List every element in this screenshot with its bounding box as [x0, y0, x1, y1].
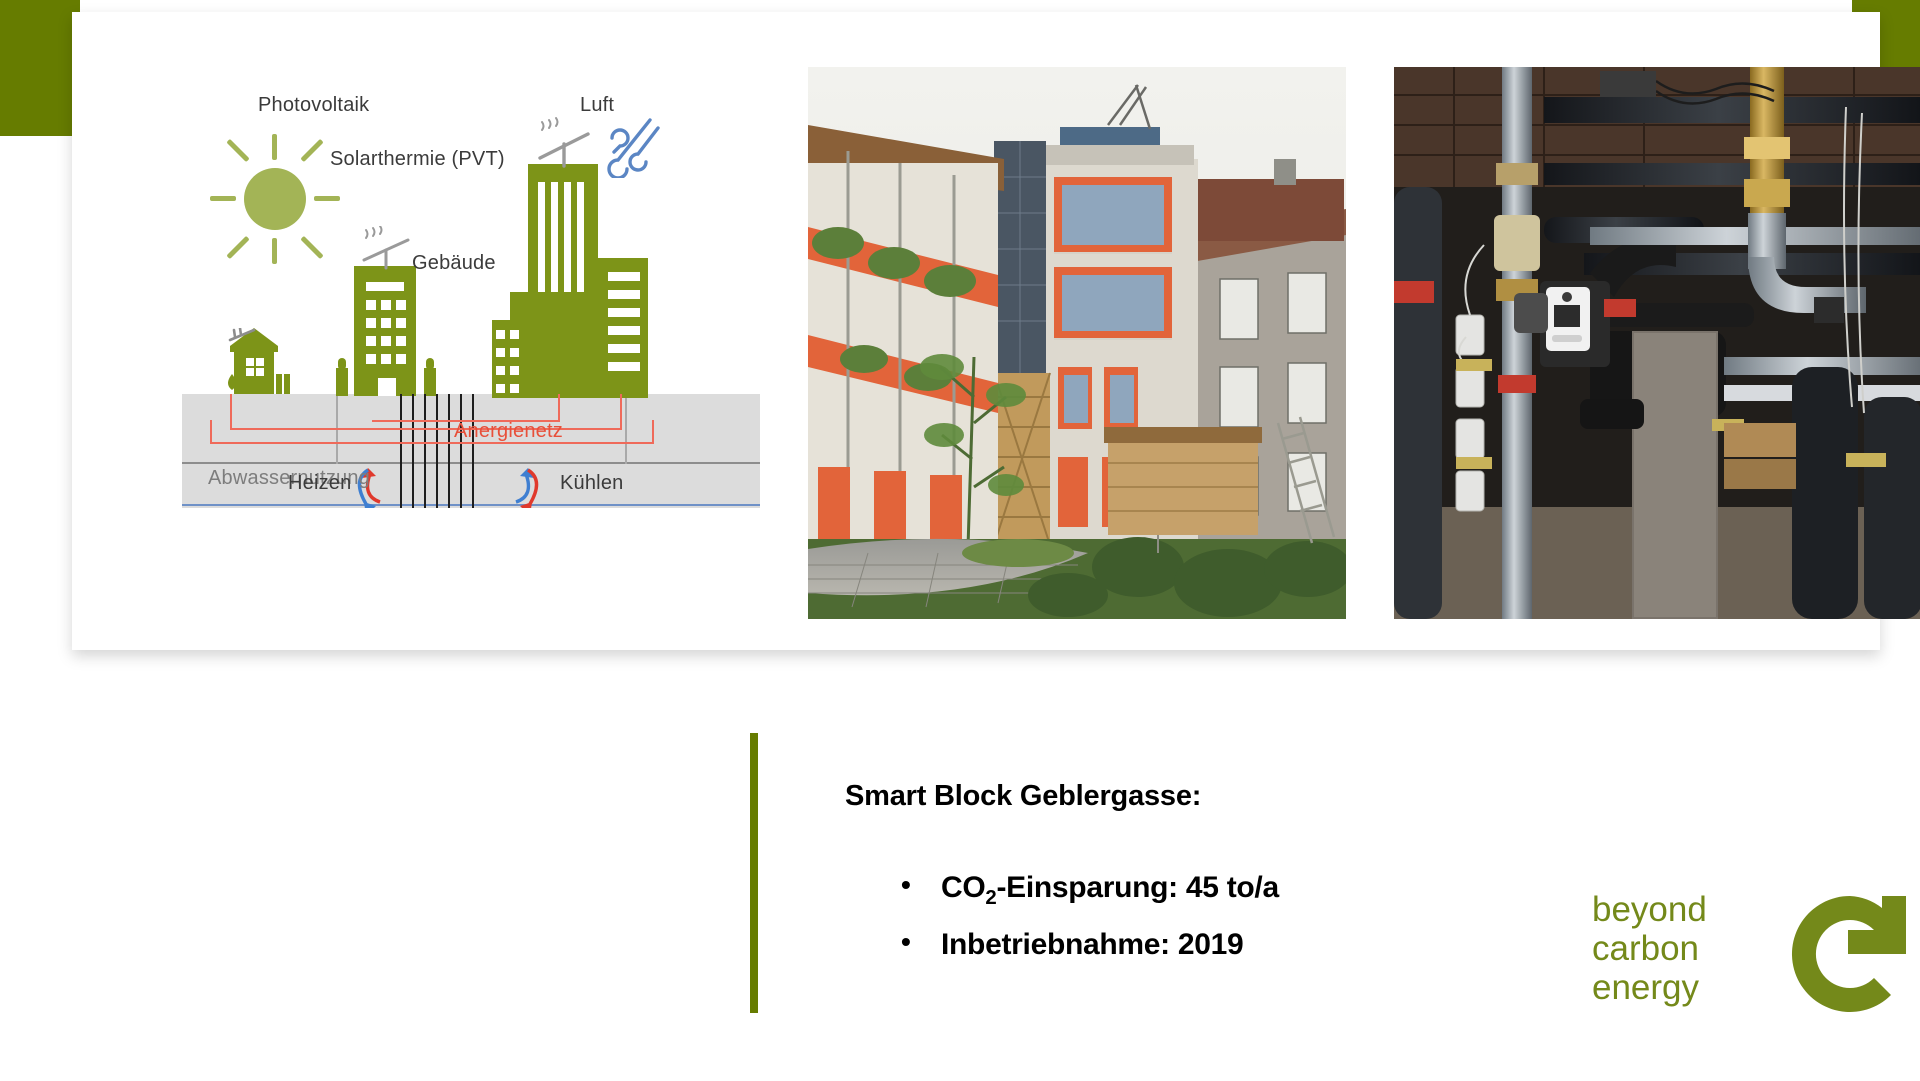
media-card: Photovoltaik Solarthermie (PVT) Gebäude … [72, 12, 1880, 650]
logo-line-1: beyond [1592, 890, 1707, 929]
label-geothermie: Geothermie [374, 506, 481, 508]
caption-accent-bar [750, 733, 758, 1013]
logo-wordmark: beyond carbon energy [1592, 890, 1707, 1007]
house-icon [202, 328, 292, 396]
label-luft: Luft [580, 94, 614, 117]
cooling-cycle-arrow-icon [498, 458, 542, 508]
high-rise-building-icon [482, 106, 652, 396]
bullet-text-rest: -Einsparung: 45 to/a [996, 871, 1278, 904]
beyond-carbon-energy-logo: beyond carbon energy [1592, 890, 1892, 1020]
label-heizen: Heizen [288, 472, 351, 495]
sun-icon [210, 134, 340, 264]
list-item: • Inbetriebnahme: 2019 [845, 928, 1605, 967]
caption-block: Smart Block Geblergasse: • CO2-Einsparun… [845, 780, 1605, 985]
e-mark-icon [1788, 892, 1912, 1016]
photo-courtyard [808, 67, 1346, 619]
list-item: • CO2-Einsparung: 45 to/a [845, 871, 1605, 910]
bullet-marker: • [901, 869, 911, 901]
bullet-text-prefix: CO [941, 871, 985, 904]
label-anergienetz: Anergienetz [454, 420, 563, 443]
energy-concept-diagram: Photovoltaik Solarthermie (PVT) Gebäude … [182, 58, 760, 508]
caption-bullet-list: • CO2-Einsparung: 45 to/a • Inbetriebnah… [845, 871, 1605, 967]
bullet-text-prefix: Inbetriebnahme: 2019 [941, 928, 1243, 961]
photo-plantroom [1394, 67, 1920, 619]
caption-title: Smart Block Geblergasse: [845, 780, 1605, 813]
label-solarthermie: Solarthermie (PVT) [330, 148, 505, 171]
logo-line-2: carbon [1592, 929, 1707, 968]
bullet-marker: • [901, 926, 911, 958]
anergy-pipe-inner [372, 394, 560, 422]
bullet-text-subscript: 2 [985, 887, 996, 909]
label-gebaeude: Gebäude [412, 252, 496, 275]
wastewater-layer-line [182, 462, 760, 464]
logo-line-3: energy [1592, 968, 1707, 1007]
corner-accent-top-left [0, 0, 80, 136]
label-kuehlen: Kühlen [560, 472, 623, 495]
label-photovoltaik: Photovoltaik [258, 94, 369, 117]
